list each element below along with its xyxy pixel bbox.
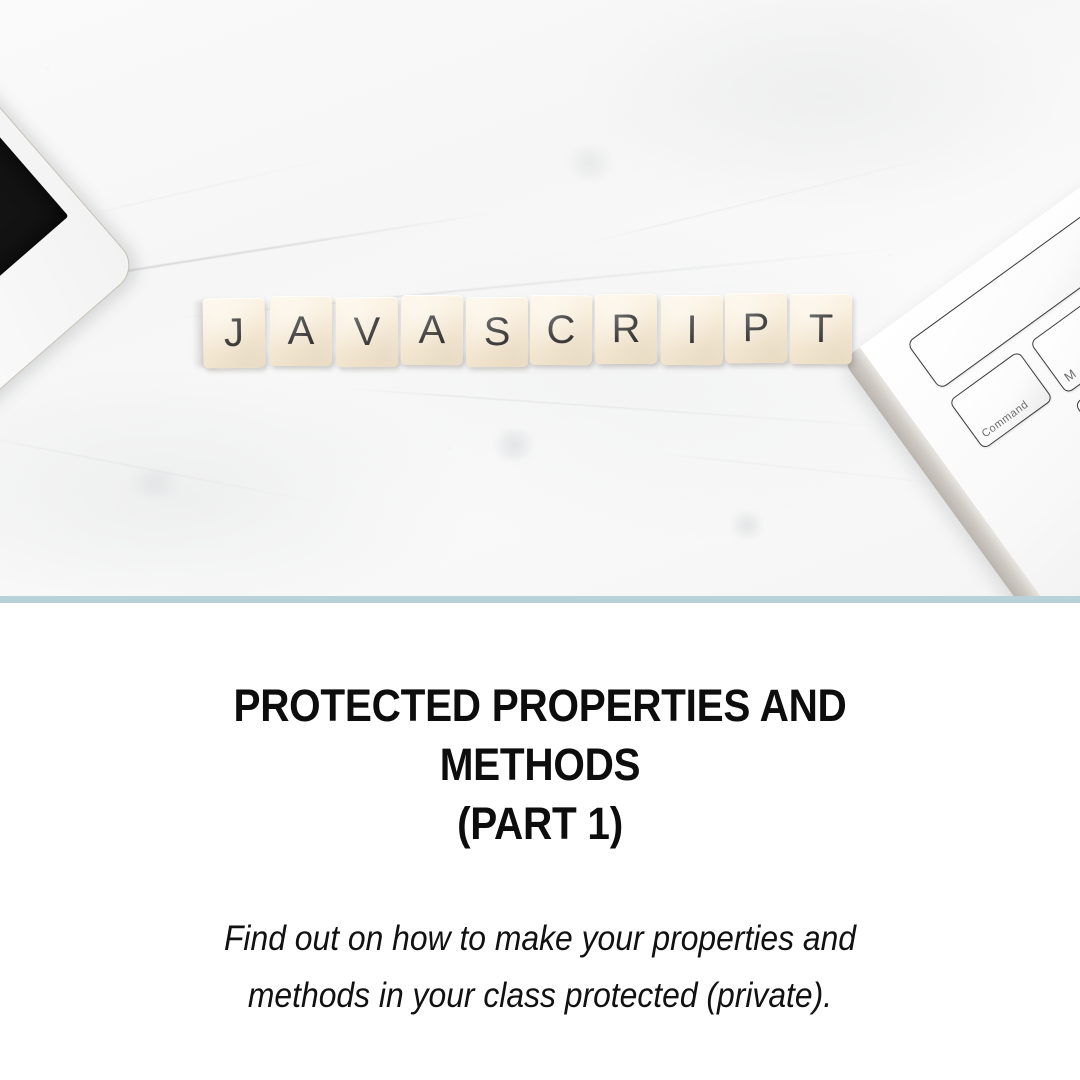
page-title: PROTECTED PROPERTIES AND METHODS (PART 1… xyxy=(54,676,1026,853)
m-key-label: M xyxy=(1061,366,1079,385)
scrabble-tile: A xyxy=(270,296,332,366)
command-key-label: Command xyxy=(980,399,1031,441)
scrabble-tile: V xyxy=(336,297,399,368)
hero-photo: Command N M J A V A S C R xyxy=(0,0,1080,596)
scrabble-tile: T xyxy=(790,294,852,364)
marble-speckle xyxy=(726,512,768,538)
marble-speckle xyxy=(560,146,620,180)
poster-card: Command N M J A V A S C R xyxy=(0,0,1080,1080)
marble-speckle xyxy=(120,470,190,496)
scrabble-tile: A xyxy=(401,295,464,366)
page-subtitle: Find out on how to make your properties … xyxy=(49,910,1032,1024)
scrabble-tile: J xyxy=(203,298,266,369)
content-section: PROTECTED PROPERTIES AND METHODS (PART 1… xyxy=(0,603,1080,1080)
section-divider xyxy=(0,596,1080,603)
marble-speckle xyxy=(488,430,540,460)
scrabble-tile: R xyxy=(595,294,657,364)
scrabble-tile: S xyxy=(466,297,528,367)
scrabble-tile: C xyxy=(530,295,593,366)
scrabble-tile-row: J A V A S C R I P T xyxy=(203,293,853,371)
scrabble-tile: I xyxy=(661,295,723,365)
scrabble-tile: P xyxy=(725,293,788,364)
